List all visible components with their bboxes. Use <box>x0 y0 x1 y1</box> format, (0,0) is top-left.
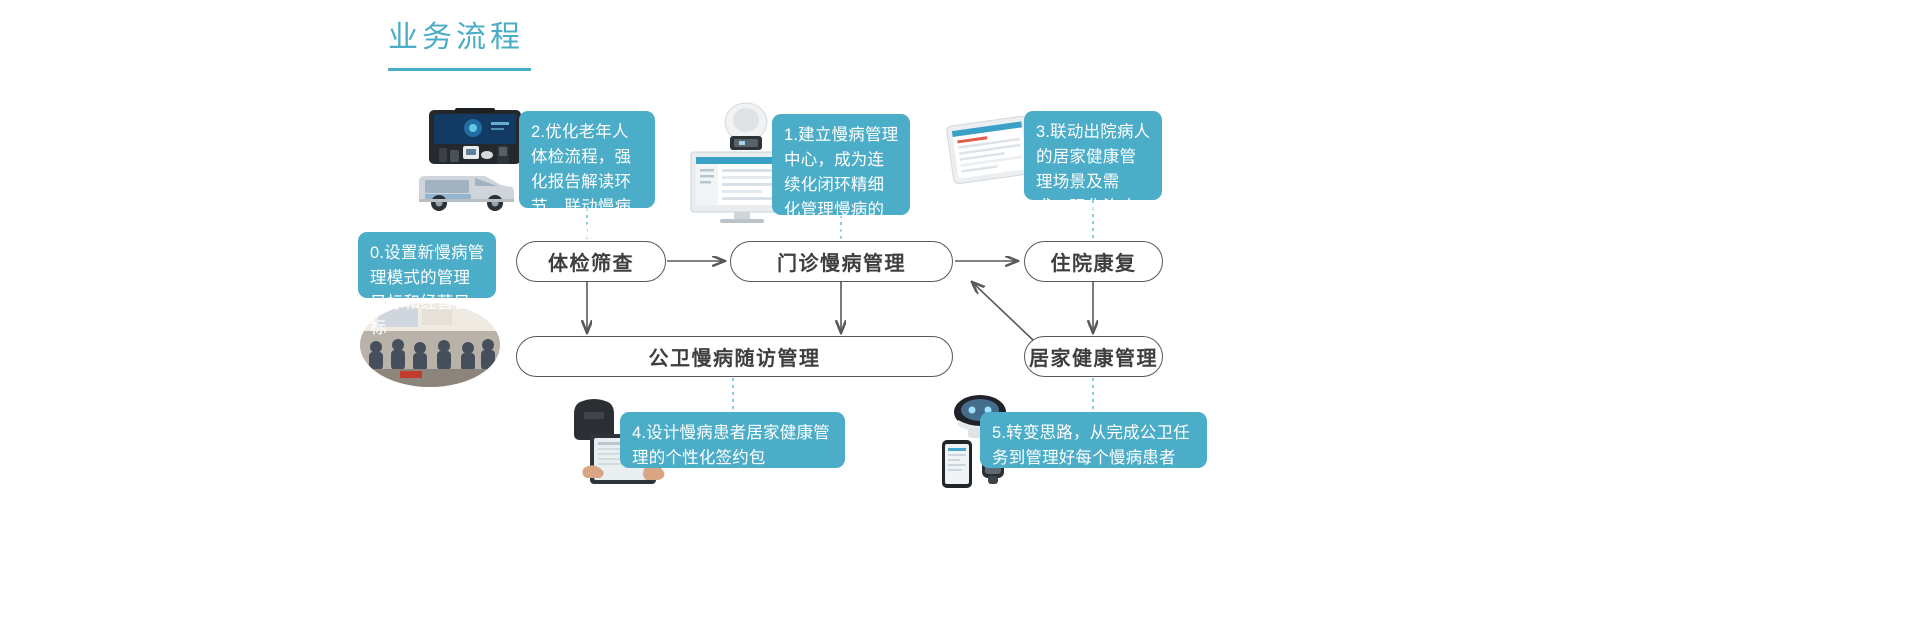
node-outpatient[interactable]: 门诊慢病管理 <box>730 241 953 282</box>
node-homehealth[interactable]: 居家健康管理 <box>1024 336 1163 377</box>
node-inpatient-label: 住院康复 <box>1051 247 1137 276</box>
flow-arrows <box>0 0 1920 644</box>
node-followup-label: 公卫慢病随访管理 <box>649 342 821 371</box>
callout-2: 2.优化老年人体检流程，强化报告解读环节，联动慢病管理中心 <box>519 111 655 208</box>
node-screening[interactable]: 体检筛查 <box>516 241 666 282</box>
node-homehealth-label: 居家健康管理 <box>1029 342 1158 371</box>
callout-4: 4.设计慢病患者居家健康管理的个性化签约包 <box>620 412 845 468</box>
node-outpatient-label: 门诊慢病管理 <box>777 247 906 276</box>
node-followup[interactable]: 公卫慢病随访管理 <box>516 336 953 377</box>
callout-3: 3.联动出院病人的居家健康管理场景及需求，强化治疗效果 <box>1024 111 1162 200</box>
callout-1: 1.建立慢病管理中心，成为连续化闭环精细化管理慢病的战略组织 <box>772 114 910 215</box>
callout-5: 5.转变思路，从完成公卫任务到管理好每个慢病患者 <box>980 412 1207 468</box>
node-inpatient[interactable]: 住院康复 <box>1024 241 1163 282</box>
business-process-diagram: 业务流程 <box>0 0 1920 644</box>
callout-0: 0.设置新慢病管理模式的管理目标和经营目标 <box>358 232 496 298</box>
node-screening-label: 体检筛查 <box>548 247 634 276</box>
